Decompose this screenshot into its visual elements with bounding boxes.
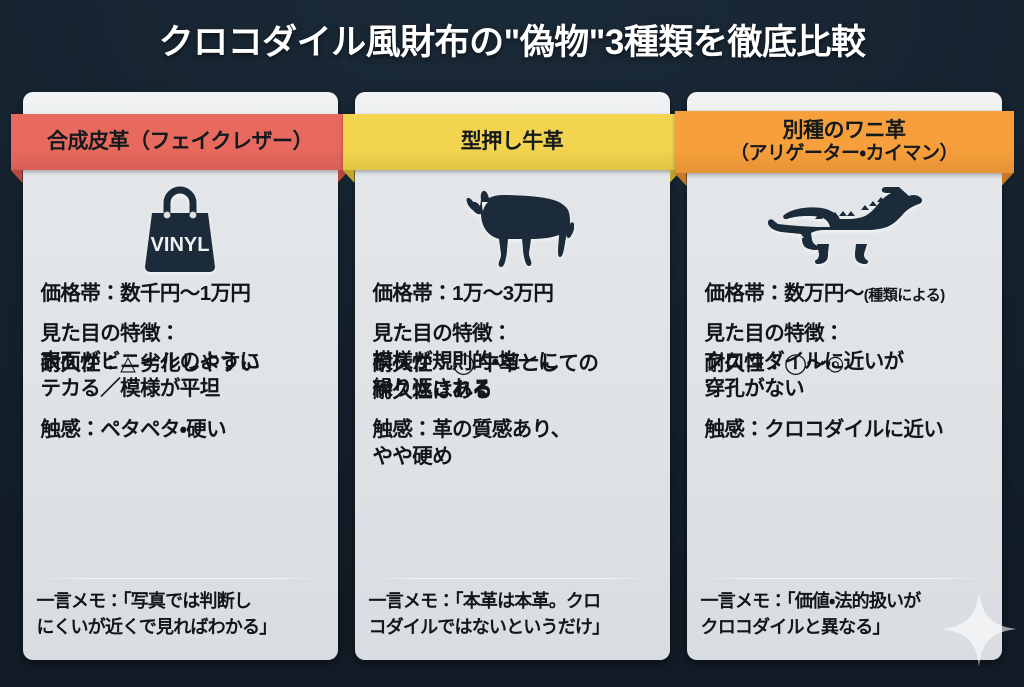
crocodile-icon xyxy=(687,172,1002,282)
icon-caption: VINYL xyxy=(151,234,210,256)
infographic-canvas: クロコダイル風財布の"偽物"3種類を徹底比較 合成皮革（フェイクレザー） VIN… xyxy=(0,0,1024,687)
durability-field: 耐久性：◯〜◎ xyxy=(687,350,1002,377)
card-synthetic-leather: 合成皮革（フェイクレザー） VINYL 価格帯：数千円〜1万円 見た目の特徴： … xyxy=(23,92,338,660)
durability-line-1: 耐久性：◯〜◎ xyxy=(705,350,984,377)
price-value: 価格帯：1万〜3万円 xyxy=(373,282,554,305)
note-divider xyxy=(39,578,322,579)
card-header-banner-1: 合成皮革（フェイクレザー） xyxy=(11,114,350,170)
price-field: 価格帯：数万円〜(種類による) xyxy=(705,280,984,307)
touch-line-1: 触感：ペタペタ・硬い xyxy=(41,416,320,443)
card-header-label: 合成皮革（フェイクレザー） xyxy=(41,130,319,154)
note-field: 一言メモ：「価値・法的扱いが クロコダイルと異なる」 xyxy=(687,589,1002,640)
price-field: 価格帯：1万〜3万円 xyxy=(373,280,652,307)
ribbon-fold-left xyxy=(11,170,23,183)
comparison-cards: 合成皮革（フェイクレザー） VINYL 価格帯：数千円〜1万円 見た目の特徴： … xyxy=(0,92,1024,664)
note-divider xyxy=(703,578,986,579)
durability-line-1: 耐久性：◯ 牛革としての xyxy=(373,350,652,377)
price-field: 価格帯：数千円〜1万円 xyxy=(41,280,320,307)
card-header-sub: （アリゲーター・カイマン） xyxy=(730,143,958,165)
card-other-crocodilian: 別種のワニ革 （アリゲーター・カイマン） xyxy=(687,92,1002,660)
durability-field: 耐久性：◯ 牛革としての 耐久性はある xyxy=(355,350,670,405)
price-value: 価格帯：数千円〜1万円 xyxy=(41,282,251,305)
appearance-line-2: 穿孔がない xyxy=(705,375,984,402)
durability-field: 耐久性：△ 劣化しやすい xyxy=(23,350,338,377)
touch-field: 触感：革の質感あり、 やや硬め xyxy=(373,416,652,471)
ribbon-fold-right xyxy=(1002,173,1014,186)
note-line-2: コダイルではないというだけ」 xyxy=(369,615,656,641)
touch-line-1: 触感：革の質感あり、 xyxy=(373,416,652,443)
note-field: 一言メモ：「本革は本革。クロ コダイルではないというだけ」 xyxy=(355,589,670,640)
durability-line-2: 耐久性はある xyxy=(373,377,652,404)
note-line-2: にくいが近くで見ればわかる」 xyxy=(37,615,324,641)
note-line-1: 一言メモ：「写真では判断し xyxy=(37,589,324,615)
note-divider xyxy=(371,578,654,579)
appearance-line-2: テカる／模様が平坦 xyxy=(41,375,320,402)
touch-field: 触感：ペタペタ・硬い xyxy=(41,416,320,443)
price-value: 価格帯：数万円〜 xyxy=(705,282,864,305)
card-header-label: 別種のワニ革 （アリゲーター・カイマン） xyxy=(724,119,964,165)
note-field: 一言メモ：「写真では判断し にくいが近くで見ればわかる」 xyxy=(23,589,338,640)
card-header-banner-3: 別種のワニ革 （アリゲーター・カイマン） xyxy=(675,111,1014,173)
note-line-1: 一言メモ：「本革は本革。クロ xyxy=(369,589,656,615)
appearance-label: 見た目の特徴： xyxy=(373,320,652,347)
handbag-vinyl-icon: VINYL xyxy=(23,172,338,282)
card-header-label: 型押し牛革 xyxy=(455,130,570,154)
note-line-2: クロコダイルと異なる」 xyxy=(701,615,988,641)
title-container: クロコダイル風財布の"偽物"3種類を徹底比較 xyxy=(0,14,1024,65)
price-note: (種類による) xyxy=(864,287,945,304)
durability-line-1: 耐久性：△ 劣化しやすい xyxy=(41,350,320,377)
touch-field: 触感：クロコダイルに近い xyxy=(705,416,984,443)
card-embossed-cowhide: 型押し牛革 価格帯：1万〜3万円 見た目の特徴： 模様が規則的・均一に 繰り返さ… xyxy=(355,92,670,660)
page-title: クロコダイル風財布の"偽物"3種類を徹底比較 xyxy=(159,14,866,65)
note-line-1: 一言メモ：「価値・法的扱いが xyxy=(701,589,988,615)
card-header-main: 別種のワニ革 xyxy=(783,119,906,142)
appearance-label: 見た目の特徴： xyxy=(705,320,984,347)
touch-line-2: やや硬め xyxy=(373,443,652,470)
cow-icon xyxy=(355,172,670,282)
touch-line-1: 触感：クロコダイルに近い xyxy=(705,416,984,443)
card-header-banner-2: 型押し牛革 xyxy=(343,114,682,170)
appearance-label: 見た目の特徴： xyxy=(41,320,320,347)
